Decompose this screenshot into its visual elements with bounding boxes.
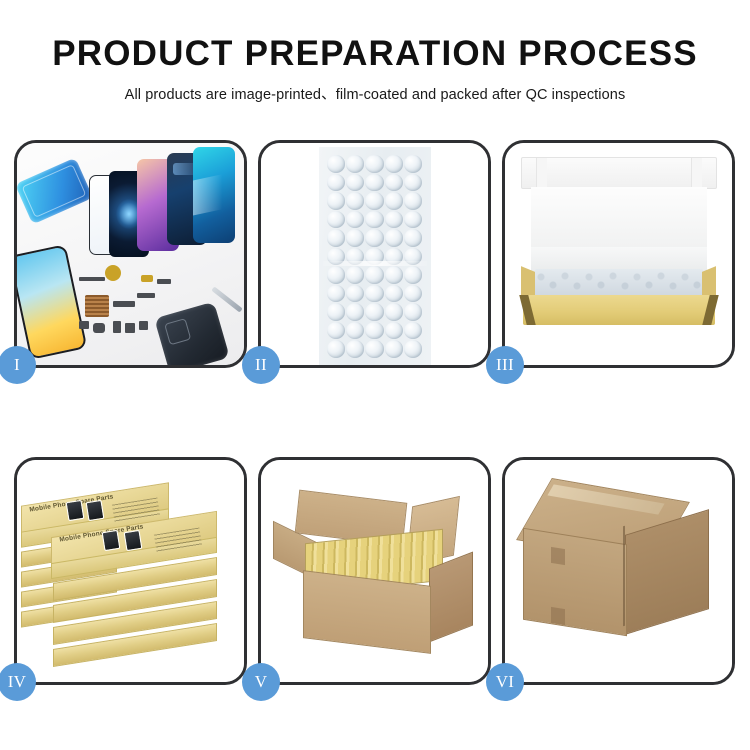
bubble <box>385 285 403 303</box>
bubble <box>404 192 422 210</box>
mailer-box-lid <box>521 157 717 189</box>
step-1-image <box>17 143 244 365</box>
bubble <box>385 303 403 321</box>
bubble <box>385 192 403 210</box>
page-subtitle: All products are image-printed、film-coat… <box>0 83 750 104</box>
step-5-image <box>261 460 488 682</box>
sealed-carton-front <box>523 528 627 636</box>
bubble <box>404 229 422 247</box>
bubble <box>346 266 364 284</box>
spare-parts-group <box>79 263 229 363</box>
bubble <box>346 303 364 321</box>
phone-adhesive-frame-icon <box>17 157 93 224</box>
step-badge-3: III <box>486 346 524 384</box>
bubble <box>385 211 403 229</box>
bubble <box>346 174 364 192</box>
carton-handle-tab-bottom <box>551 607 565 625</box>
bubble-wrap-bubbles <box>327 155 423 351</box>
bubble <box>327 266 345 284</box>
bubble <box>365 322 383 340</box>
step-4-image: Mobile Phone Spare Parts Mobile Phone Sp… <box>17 460 244 682</box>
page-header: PRODUCT PREPARATION PROCESS All products… <box>0 0 750 104</box>
step-2-image <box>261 143 488 365</box>
bubble <box>365 285 383 303</box>
bubble <box>404 174 422 192</box>
bubble <box>385 266 403 284</box>
sealed-carton-edge <box>623 526 625 627</box>
bubble <box>346 211 364 229</box>
retail-box-stack: Mobile Phone Spare Parts Mobile Phone Sp… <box>17 460 244 682</box>
bubble <box>365 155 383 173</box>
bubble <box>327 322 345 340</box>
bubble <box>327 155 345 173</box>
bubble <box>346 155 364 173</box>
step-panel-3: III <box>502 140 735 368</box>
bubble <box>404 211 422 229</box>
bubble <box>385 174 403 192</box>
carton-front <box>303 570 431 654</box>
bubble <box>346 322 364 340</box>
bubble <box>404 303 422 321</box>
step-badge-4: IV <box>0 663 36 701</box>
bubble <box>365 211 383 229</box>
bubble <box>404 266 422 284</box>
process-steps-grid: I II III <box>14 140 736 685</box>
bubble <box>346 340 364 358</box>
step-badge-5: V <box>242 663 280 701</box>
page-title: PRODUCT PREPARATION PROCESS <box>0 36 750 73</box>
bubble <box>327 229 345 247</box>
bubble <box>365 266 383 284</box>
step-panel-5: V <box>258 457 491 685</box>
step-6-image <box>505 460 732 682</box>
bubble <box>365 174 383 192</box>
bubble <box>327 174 345 192</box>
step-panel-4: Mobile Phone Spare Parts Mobile Phone Sp… <box>14 457 247 685</box>
bubble <box>365 192 383 210</box>
phone-screen-cyan-icon <box>193 147 235 243</box>
bubble <box>346 192 364 210</box>
bubble <box>327 285 345 303</box>
bubble <box>365 303 383 321</box>
bubble <box>404 322 422 340</box>
phone-screen-large-icon <box>17 244 87 360</box>
bubble <box>385 340 403 358</box>
carton-handle-tab-top <box>551 547 565 565</box>
mailer-box-front <box>523 295 715 325</box>
bubble <box>327 340 345 358</box>
bubble <box>346 229 364 247</box>
step-panel-1: I <box>14 140 247 368</box>
step-badge-2: II <box>242 346 280 384</box>
bubble <box>385 229 403 247</box>
bubble-wrap-seam <box>323 261 427 266</box>
step-badge-1: I <box>0 346 36 384</box>
bubble <box>385 322 403 340</box>
step-panel-2: II <box>258 140 491 368</box>
bubble <box>385 155 403 173</box>
bubble <box>404 155 422 173</box>
phone-chassis-icon <box>154 302 230 365</box>
step-panel-6: VI <box>502 457 735 685</box>
bubble <box>365 340 383 358</box>
bubble <box>327 192 345 210</box>
bubble <box>327 303 345 321</box>
bubble <box>365 229 383 247</box>
step-3-image <box>505 143 732 365</box>
bubble <box>327 211 345 229</box>
bubble <box>404 285 422 303</box>
bubble <box>346 285 364 303</box>
bubble <box>404 340 422 358</box>
carton-side-right <box>429 552 473 643</box>
step-badge-6: VI <box>486 663 524 701</box>
